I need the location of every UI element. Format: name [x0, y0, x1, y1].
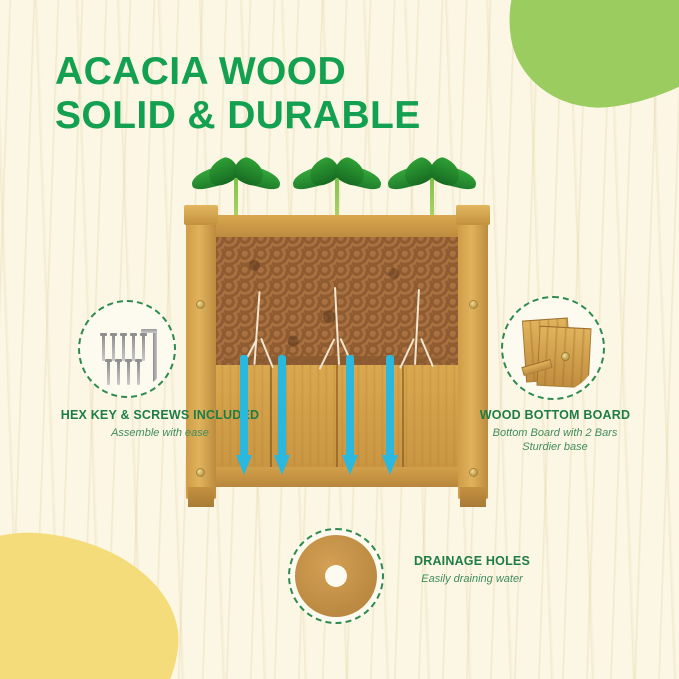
feature-hex-key-screws-text: HEX KEY & SCREWS INCLUDED Assemble with … [60, 408, 260, 440]
feature-wood-bottom-board-text: WOOD BOTTOM BOARD Bottom Board with 2 Ba… [455, 408, 655, 454]
root [414, 289, 420, 365]
leg-right [460, 487, 486, 507]
page-title: ACACIA WOOD SOLID & DURABLE [55, 50, 421, 137]
screws-and-hex-key-icon [78, 300, 176, 398]
water-flow-arrow [382, 355, 398, 477]
water-flow-arrow [236, 355, 252, 477]
green-corner-blob [493, 0, 679, 121]
corner-post-left [186, 223, 216, 499]
top-rail [200, 215, 474, 237]
feature-title: DRAINAGE HOLES [396, 554, 548, 570]
feature-subtitle: Assemble with ease [60, 426, 260, 440]
feature-subtitle: Sturdier base [455, 440, 655, 454]
yellow-corner-blob [0, 520, 188, 679]
feature-subtitle: Bottom Board with 2 Bars [455, 426, 655, 440]
root [260, 338, 274, 368]
drainage-hole-disc-icon [288, 528, 384, 624]
infographic-canvas: ACACIA WOOD SOLID & DURABLE [0, 0, 679, 679]
corner-post-right [458, 223, 488, 499]
post-cap-left [184, 205, 218, 225]
screw-head-icon [470, 469, 477, 476]
feature-title: WOOD BOTTOM BOARD [455, 408, 655, 424]
screw-head-icon [470, 301, 477, 308]
page-title-line-1: ACACIA WOOD [55, 50, 346, 93]
page-title-line-2: SOLID & DURABLE [55, 94, 421, 138]
planter-box-illustration [182, 150, 492, 510]
feature-subtitle: Easily draining water [396, 572, 548, 586]
planter-box-body [182, 205, 492, 505]
feature-title: HEX KEY & SCREWS INCLUDED [60, 408, 260, 424]
drainage-hole [325, 565, 347, 587]
root [253, 291, 260, 365]
root [420, 338, 434, 367]
feature-drainage-holes-text: DRAINAGE HOLES Easily draining water [396, 554, 548, 586]
post-cap-right [456, 205, 490, 225]
soil-fill [208, 233, 466, 368]
water-flow-arrow [342, 355, 358, 477]
water-flow-arrow [274, 355, 290, 477]
root [334, 287, 340, 365]
wood-bottom-board-icon [501, 296, 605, 400]
screw-head-icon [197, 301, 204, 308]
screw-head-icon [197, 469, 204, 476]
leg-left [188, 487, 214, 507]
